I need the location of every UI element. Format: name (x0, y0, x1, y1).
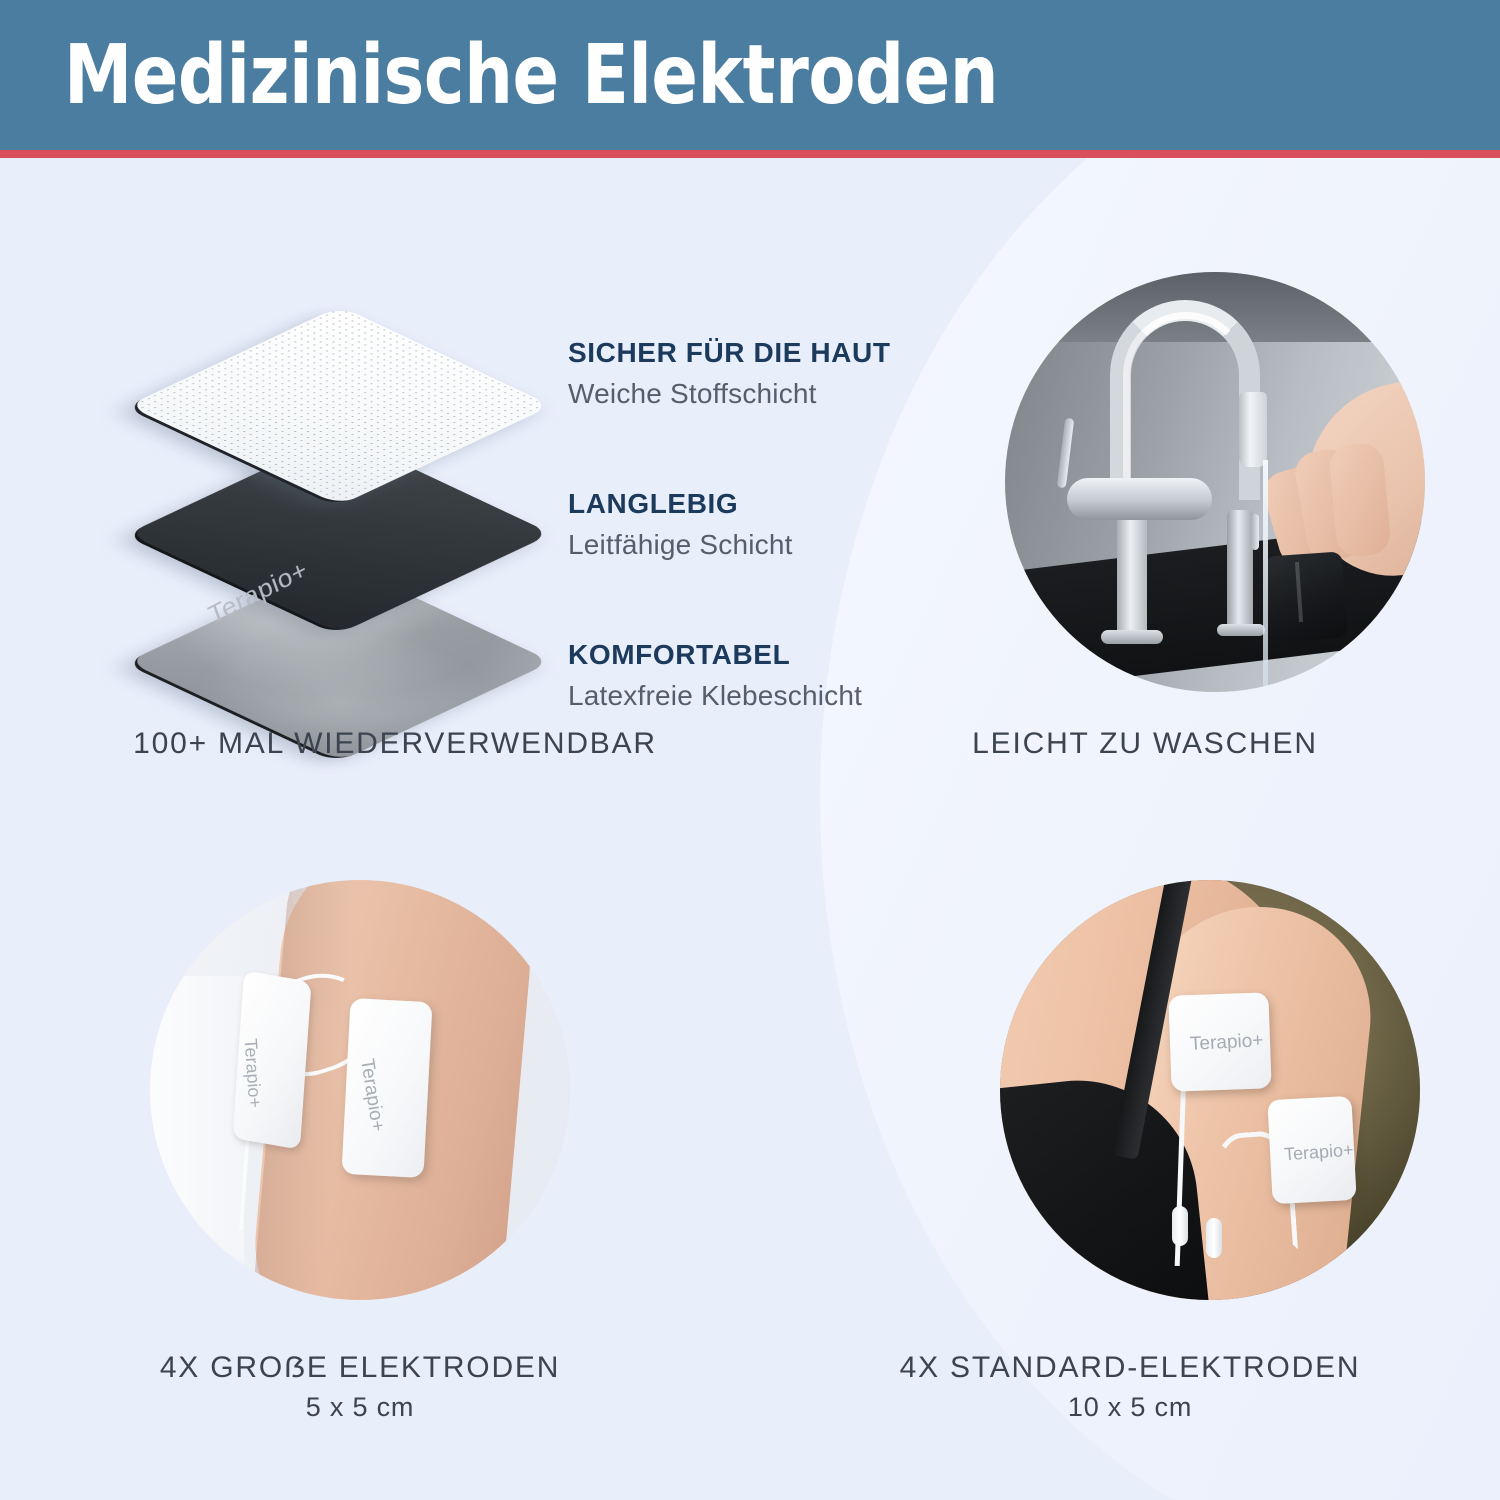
faucet-head (1239, 392, 1267, 467)
faucet-spout-highlight (1123, 312, 1249, 497)
wire-connector (1172, 1206, 1188, 1246)
water-stream (1263, 460, 1268, 692)
page-title: Medizinische Elektroden (64, 30, 998, 122)
arm-photo-backdrop-panel (150, 976, 244, 1300)
feature-item-skin-safe: SICHER FÜR DIE HAUT Weiche Stoffschicht (568, 336, 968, 412)
feature-list: SICHER FÜR DIE HAUT Weiche Stoffschicht … (568, 336, 968, 714)
feature-subtitle: Leitfähige Schicht (568, 527, 968, 563)
secondary-valve-base (1217, 624, 1265, 636)
finger (1328, 442, 1392, 558)
electrode-layer-stack-illustration: Terapio+ (118, 272, 558, 692)
layer-top-fabric (124, 306, 552, 507)
feature-subtitle: Weiche Stoffschicht (568, 376, 968, 412)
caption-standard-electrodes-label: 4X STANDARD-ELEKTRODEN (900, 1351, 1361, 1384)
feature-title: LANGLEBIG (568, 487, 968, 521)
caption-large-electrodes-label: 4X GROẞE ELEKTRODEN (160, 1351, 560, 1384)
caption-standard-electrodes: 4X STANDARD-ELEKTRODEN 10 x 5 cm (760, 1348, 1500, 1426)
photo-standard-electrodes-on-shoulder: Terapio+ Terapio+ (1000, 880, 1420, 1300)
secondary-valve-handle (1251, 514, 1259, 550)
caption-standard-electrodes-size: 10 x 5 cm (760, 1388, 1500, 1426)
feature-title: KOMFORTABEL (568, 638, 968, 672)
feature-subtitle: Latexfreie Klebeschicht (568, 678, 968, 714)
secondary-valve (1227, 510, 1253, 630)
layer-top-texture (128, 306, 552, 505)
photo-large-electrodes-on-arm: Terapio+ Terapio+ (150, 880, 570, 1300)
caption-washable: LEICHT ZU WASCHEN (790, 724, 1500, 764)
faucet-base-plate (1101, 630, 1163, 644)
brand-label-on-pad: Terapio+ (1189, 1030, 1263, 1056)
caption-large-electrodes: 4X GROẞE ELEKTRODEN 5 x 5 cm (0, 1348, 720, 1426)
feature-title: SICHER FÜR DIE HAUT (568, 336, 968, 370)
caption-large-electrodes-size: 5 x 5 cm (0, 1388, 720, 1426)
feature-item-comfortable: KOMFORTABEL Latexfreie Klebeschicht (568, 638, 968, 714)
faucet-body (1067, 478, 1212, 520)
caption-reusable: 100+ MAL WIEDERVERWENDBAR (0, 724, 790, 764)
page-header: Medizinische Elektroden (0, 0, 1500, 150)
photo-washing-electrode (1005, 272, 1425, 692)
wire-connector (1206, 1218, 1222, 1258)
feature-item-durable: LANGLEBIG Leitfähige Schicht (568, 487, 968, 563)
header-accent-line (0, 150, 1500, 158)
large-electrode-pad-right (341, 998, 432, 1178)
black-electrode-pad (1264, 551, 1348, 642)
